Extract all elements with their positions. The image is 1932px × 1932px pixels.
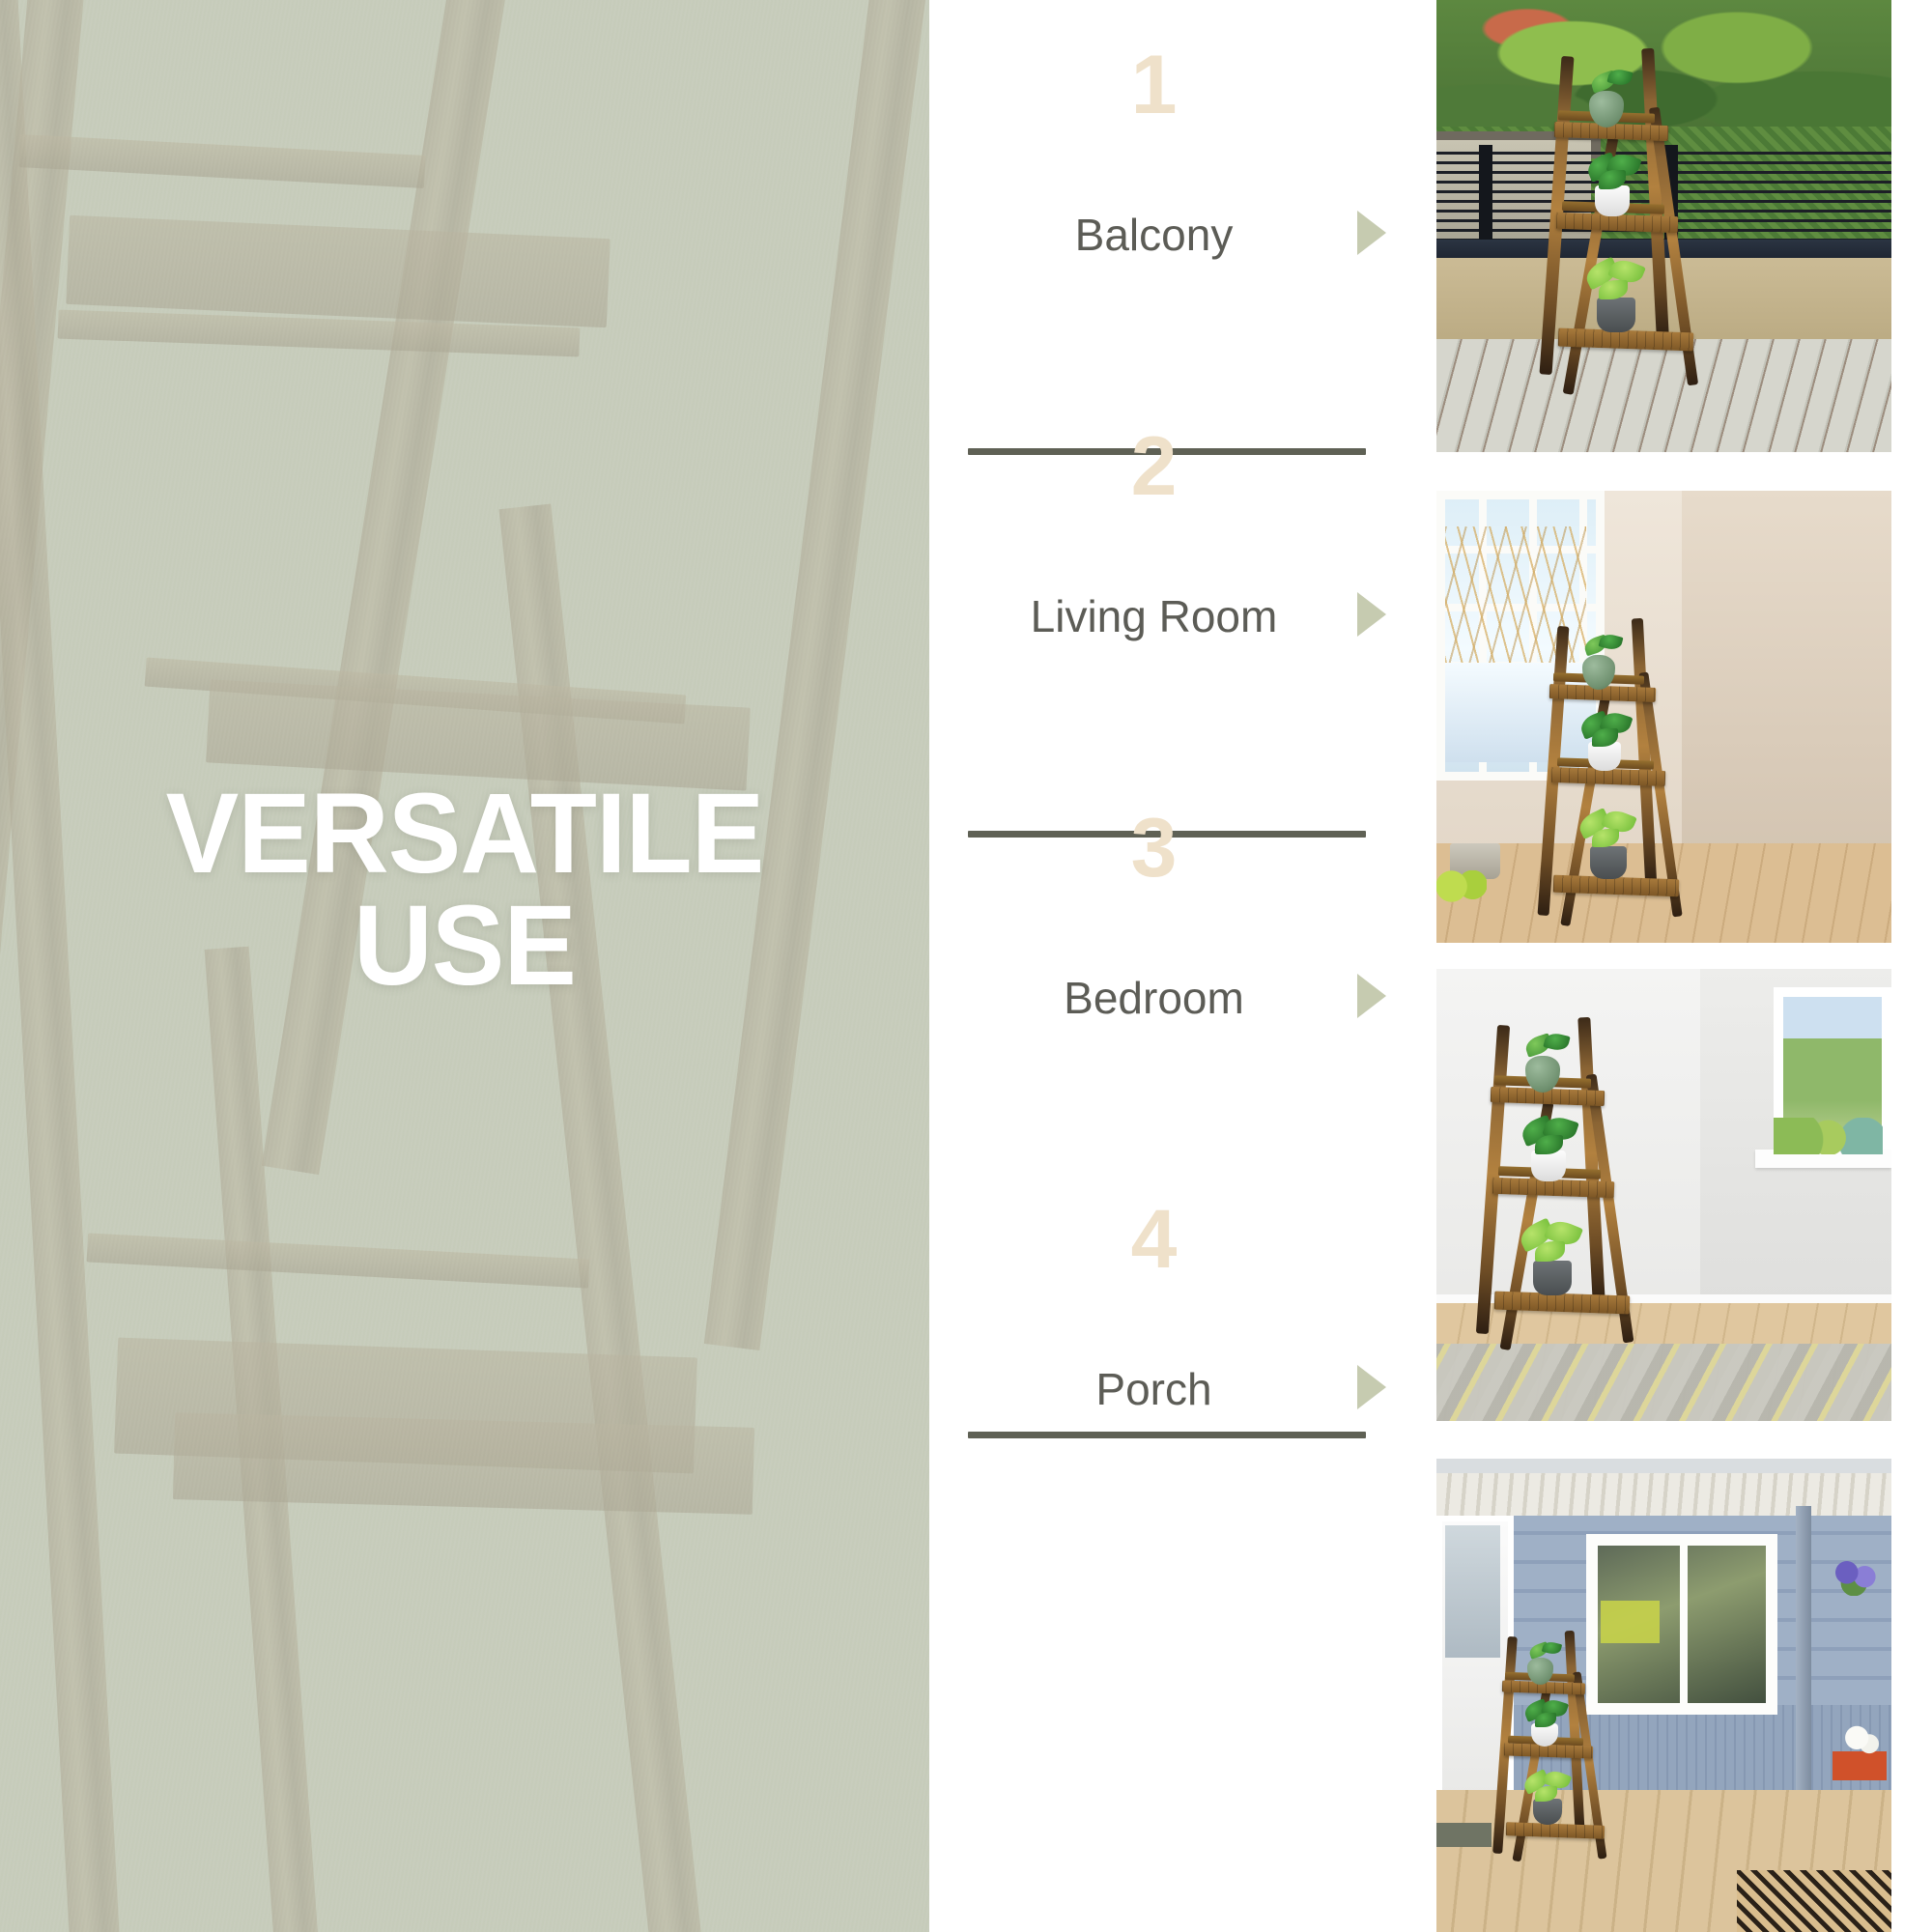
item-label: Living Room: [929, 594, 1378, 639]
plant-stand: [1538, 618, 1712, 918]
scene-bedroom: [1436, 969, 1891, 1421]
page-title: VERSATILE USE: [18, 779, 911, 1002]
hero-panel: VERSATILE USE: [0, 0, 929, 1932]
triangle-right-icon[interactable]: [1357, 211, 1386, 255]
item-label: Porch: [929, 1367, 1378, 1411]
photo-column: [1436, 0, 1932, 1932]
item-label: Balcony: [929, 213, 1378, 257]
hero-title-line-2: USE: [18, 891, 911, 1003]
use-case-list: 1 Balcony 2 Living Room 3 Bedroom 4 Porc…: [929, 0, 1436, 1932]
photo-living-room: [1436, 491, 1891, 943]
item-number: 3: [929, 807, 1378, 890]
product-feature-image: VERSATILE USE 1 Balcony 2 Living Room 3 …: [0, 0, 1932, 1932]
plant-stand: [1492, 1631, 1637, 1853]
plant-stand: [1541, 48, 1715, 386]
item-number: 2: [929, 425, 1378, 508]
item-label: Bedroom: [929, 976, 1378, 1020]
photo-balcony: [1436, 0, 1891, 452]
hero-title-line-1: VERSATILE: [166, 770, 764, 897]
triangle-right-icon[interactable]: [1357, 1365, 1386, 1409]
triangle-right-icon[interactable]: [1357, 592, 1386, 637]
scene-balcony: [1436, 0, 1891, 452]
list-divider: [968, 1432, 1366, 1438]
scene-living-room: [1436, 491, 1891, 943]
item-number: 4: [929, 1198, 1378, 1281]
item-number: 1: [929, 43, 1378, 127]
triangle-right-icon[interactable]: [1357, 974, 1386, 1018]
scene-porch: [1436, 1459, 1891, 1932]
photo-bedroom: [1436, 969, 1891, 1421]
photo-porch: [1436, 1459, 1891, 1932]
plant-stand: [1477, 1017, 1651, 1336]
